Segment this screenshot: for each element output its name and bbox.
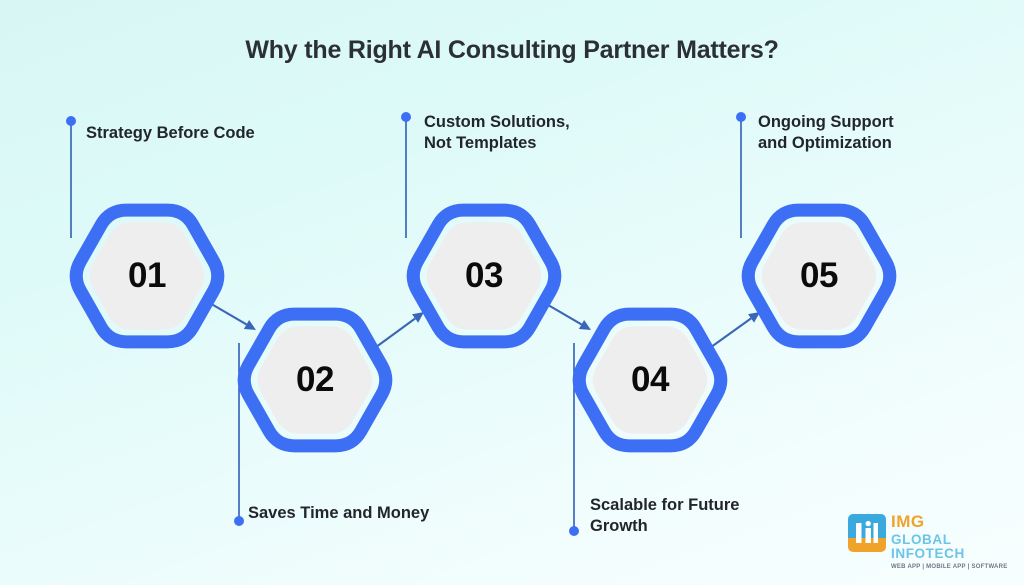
- hexagon-number-02: 02: [236, 300, 394, 460]
- hexagon-number-01: 01: [68, 196, 226, 356]
- connector-dot-02: [234, 516, 244, 526]
- logo-mark-icon: [848, 514, 886, 552]
- hexagon-step-01[interactable]: 01: [68, 196, 226, 356]
- callout-label-03: Custom Solutions, Not Templates: [424, 112, 570, 154]
- hexagon-step-03[interactable]: 03: [405, 196, 563, 356]
- connector-dot-05: [736, 112, 746, 122]
- callout-label-04: Scalable for Future Growth: [590, 495, 739, 537]
- company-logo[interactable]: IMG GLOBAL INFOTECH WEB APP | MOBILE APP…: [848, 512, 1016, 562]
- connector-dot-04: [569, 526, 579, 536]
- callout-label-01: Strategy Before Code: [86, 123, 255, 144]
- infographic-canvas: Why the Right AI Consulting Partner Matt…: [0, 0, 1024, 585]
- callout-label-02: Saves Time and Money: [248, 503, 429, 524]
- logo-name-primary: IMG: [891, 513, 1016, 530]
- hexagon-step-02[interactable]: 02: [236, 300, 394, 460]
- logo-tagline: WEB APP | MOBILE APP | SOFTWARE: [891, 564, 1016, 570]
- hexagon-number-05: 05: [740, 196, 898, 356]
- connector-dot-01: [66, 116, 76, 126]
- hexagon-step-04[interactable]: 04: [571, 300, 729, 460]
- callout-label-05: Ongoing Support and Optimization: [758, 112, 894, 154]
- logo-name-secondary: GLOBAL INFOTECH: [891, 533, 1016, 560]
- hexagon-number-04: 04: [571, 300, 729, 460]
- connector-dot-03: [401, 112, 411, 122]
- hexagon-step-05[interactable]: 05: [740, 196, 898, 356]
- hexagon-number-03: 03: [405, 196, 563, 356]
